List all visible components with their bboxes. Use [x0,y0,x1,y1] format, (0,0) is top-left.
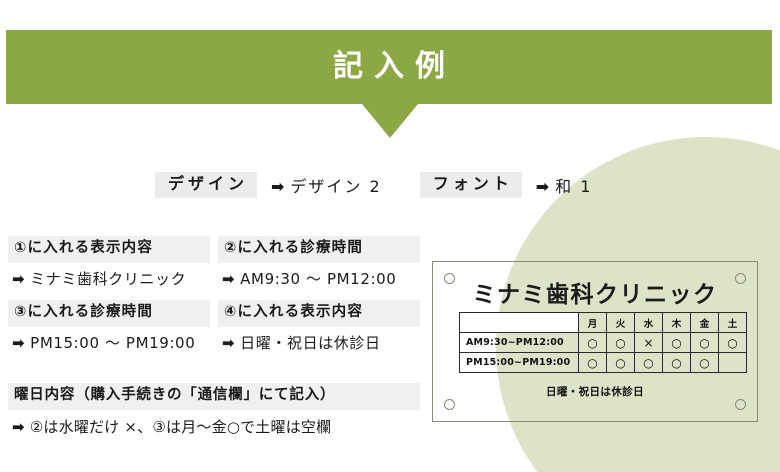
sign-footer-note: 日曜・祝日は休診日 [433,384,757,399]
info-label: ③に入れる診療時間 [8,300,210,327]
day-header-tue: 火 [607,313,635,333]
arrow-right-icon: ➡ [12,334,30,352]
page-title: 記入例 [322,52,456,82]
mark-morning-tue: ○ [607,333,635,353]
header-banner: 記入例 [6,30,772,104]
info-cell-3: ③に入れる診療時間 ➡PM15:00 〜 PM19:00 [8,300,210,352]
arrow-right-icon: ➡ [222,334,240,352]
mark-morning-mon: ○ [579,333,607,353]
page-root: 記入例 デザイン ➡デザイン 2 フォント ➡和 1 ①に入れる表示内容 ➡ミナ… [0,0,780,472]
mark-morning-thu: ○ [663,333,691,353]
row-time-afternoon: PM15:00~PM19:00 [460,353,579,373]
weekday-label: 曜日内容（購入手続きの「通信欄」にて記入） [8,383,420,410]
arrow-right-icon: ➡ [271,177,290,196]
screw-hole-icon [735,399,746,410]
table-row: AM9:30~PM12:00 ○ ○ × ○ ○ ○ [460,333,747,353]
mark-afternoon-thu: ○ [663,353,691,373]
info-cell-2: ②に入れる診療時間 ➡AM9:30 〜 PM12:00 [218,236,420,288]
info-value: ➡ミナミ歯科クリニック [8,263,210,288]
day-header-fri: 金 [691,313,719,333]
weekday-value-text: ②は水曜だけ ×、③は月〜金○で土曜は空欄 [30,418,332,436]
mark-morning-sat: ○ [719,333,747,353]
sign-hours-table: 月 火 水 木 金 土 AM9:30~PM12:00 ○ ○ × ○ ○ ○ P… [459,312,747,373]
mark-morning-wed: × [635,333,663,353]
sign-preview-panel: ミナミ歯科クリニック 月 火 水 木 金 土 AM9:30~PM12:00 ○ … [432,261,758,422]
table-row: PM15:00~PM19:00 ○ ○ ○ ○ ○ [460,353,747,373]
day-header-mon: 月 [579,313,607,333]
arrow-right-icon: ➡ [12,418,30,436]
arrow-right-icon: ➡ [12,270,30,288]
weekday-value: ➡②は水曜だけ ×、③は月〜金○で土曜は空欄 [8,410,420,436]
info-row: ③に入れる診療時間 ➡PM15:00 〜 PM19:00 ④に入れる表示内容 ➡… [8,300,420,352]
info-grid: ①に入れる表示内容 ➡ミナミ歯科クリニック ②に入れる診療時間 ➡AM9:30 … [8,236,420,364]
font-label-chip: フォント [420,172,522,198]
row-time-morning: AM9:30~PM12:00 [460,333,579,353]
info-label: ②に入れる診療時間 [218,236,420,263]
info-value-text: AM9:30 〜 PM12:00 [240,270,396,288]
arrow-right-icon: ➡ [536,177,555,196]
design-value: ➡デザイン 2 [257,173,382,197]
info-value-text: PM15:00 〜 PM19:00 [30,334,195,352]
banner-pointer-triangle [362,104,418,138]
font-value: ➡和 1 [522,173,593,197]
info-value-text: ミナミ歯科クリニック [30,270,186,288]
table-header-row: 月 火 水 木 金 土 [460,313,747,333]
mark-afternoon-fri: ○ [691,353,719,373]
mark-morning-fri: ○ [691,333,719,353]
selection-row: デザイン ➡デザイン 2 フォント ➡和 1 [155,170,592,200]
table-corner-cell [460,313,579,333]
info-cell-4: ④に入れる表示内容 ➡日曜・祝日は休診日 [218,300,420,352]
sign-title: ミナミ歯科クリニック [433,275,757,309]
mark-afternoon-sat [719,353,747,373]
design-label-chip: デザイン [155,172,257,198]
info-cell-1: ①に入れる表示内容 ➡ミナミ歯科クリニック [8,236,210,288]
info-label: ④に入れる表示内容 [218,300,420,327]
mark-afternoon-mon: ○ [579,353,607,373]
weekday-block: 曜日内容（購入手続きの「通信欄」にて記入） ➡②は水曜だけ ×、③は月〜金○で土… [8,383,420,436]
mark-afternoon-tue: ○ [607,353,635,373]
info-value: ➡PM15:00 〜 PM19:00 [8,327,210,352]
mark-afternoon-wed: ○ [635,353,663,373]
info-value: ➡AM9:30 〜 PM12:00 [218,263,420,288]
day-header-sat: 土 [719,313,747,333]
day-header-wed: 水 [635,313,663,333]
screw-hole-icon [444,399,455,410]
font-value-text: 和 1 [555,177,592,196]
day-header-thu: 木 [663,313,691,333]
arrow-right-icon: ➡ [222,270,240,288]
info-row: ①に入れる表示内容 ➡ミナミ歯科クリニック ②に入れる診療時間 ➡AM9:30 … [8,236,420,288]
info-value-text: 日曜・祝日は休診日 [240,334,380,352]
info-value: ➡日曜・祝日は休診日 [218,327,420,352]
design-value-text: デザイン 2 [290,177,381,196]
info-label: ①に入れる表示内容 [8,236,210,263]
